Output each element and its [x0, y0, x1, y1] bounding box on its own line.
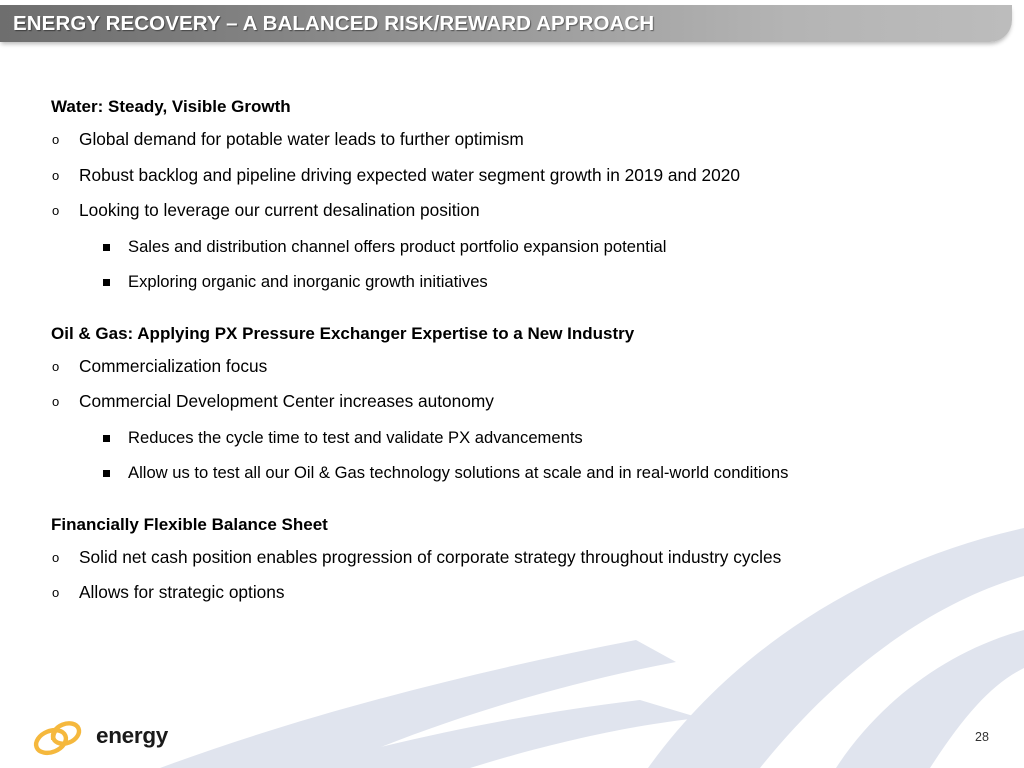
list-item: o Robust backlog and pipeline driving ex… — [51, 158, 1024, 194]
sub-list-item: Exploring organic and inorganic growth i… — [100, 264, 1024, 300]
list-item-label: Commercialization focus — [79, 356, 267, 376]
circle-bullet-icon: o — [52, 575, 59, 611]
square-bullet-icon — [103, 470, 110, 477]
list-item: o Commercial Development Center increase… — [51, 384, 1024, 420]
sub-list-item-label: Reduces the cycle time to test and valid… — [128, 428, 583, 447]
page-number: 28 — [975, 730, 1005, 744]
list-item: o Commercialization focus — [51, 349, 1024, 385]
slide-body: Water: Steady, Visible Growth o Global d… — [0, 92, 1024, 611]
circle-bullet-icon: o — [52, 540, 59, 576]
list-item: o Looking to leverage our current desali… — [51, 193, 1024, 229]
sub-list-item: Sales and distribution channel offers pr… — [100, 229, 1024, 265]
sub-list-item: Reduces the cycle time to test and valid… — [100, 420, 1024, 456]
logo-wordmark-text: energy recovery — [96, 723, 187, 768]
square-bullet-icon — [103, 244, 110, 251]
sub-list-item-label: Exploring organic and inorganic growth i… — [128, 272, 488, 291]
energy-recovery-swirl-icon — [30, 719, 88, 757]
section-balance-sheet: Financially Flexible Balance Sheet o Sol… — [0, 510, 1024, 611]
page-title: ENERGY RECOVERY – A BALANCED RISK/REWARD… — [13, 5, 654, 42]
section-heading: Financially Flexible Balance Sheet — [51, 510, 1024, 540]
sub-list-item: Allow us to test all our Oil & Gas techn… — [100, 455, 1024, 491]
slide-title-bar: ENERGY RECOVERY – A BALANCED RISK/REWARD… — [0, 5, 1012, 42]
list-item-label: Global demand for potable water leads to… — [79, 129, 524, 149]
section-heading: Oil & Gas: Applying PX Pressure Exchange… — [51, 319, 1024, 349]
section-water: Water: Steady, Visible Growth o Global d… — [0, 92, 1024, 300]
list-item-label: Solid net cash position enables progress… — [79, 547, 781, 567]
section-heading: Water: Steady, Visible Growth — [51, 92, 1024, 122]
square-bullet-icon — [103, 435, 110, 442]
list-item-label: Commercial Development Center increases … — [79, 391, 494, 411]
circle-bullet-icon: o — [52, 349, 59, 385]
list-item-label: Allows for strategic options — [79, 582, 285, 602]
square-bullet-icon — [103, 279, 110, 286]
list-item: o Global demand for potable water leads … — [51, 122, 1024, 158]
circle-bullet-icon: o — [52, 122, 59, 158]
company-logo: energy recovery® — [30, 716, 260, 760]
list-item: o Solid net cash position enables progre… — [51, 540, 1024, 576]
section-oil-and-gas: Oil & Gas: Applying PX Pressure Exchange… — [0, 319, 1024, 491]
slide: ENERGY RECOVERY – A BALANCED RISK/REWARD… — [0, 0, 1024, 768]
list-item: o Allows for strategic options — [51, 575, 1024, 611]
circle-bullet-icon: o — [52, 193, 59, 229]
circle-bullet-icon: o — [52, 158, 59, 194]
circle-bullet-icon: o — [52, 384, 59, 420]
watermark-arc-lower — [300, 700, 700, 768]
list-item-label: Robust backlog and pipeline driving expe… — [79, 165, 740, 185]
logo-wordmark: energy recovery® — [96, 716, 260, 756]
watermark-arc-middle — [836, 630, 1024, 768]
list-item-label: Looking to leverage our current desalina… — [79, 200, 480, 220]
sub-list-item-label: Sales and distribution channel offers pr… — [128, 237, 666, 256]
sub-list-item-label: Allow us to test all our Oil & Gas techn… — [128, 463, 788, 482]
